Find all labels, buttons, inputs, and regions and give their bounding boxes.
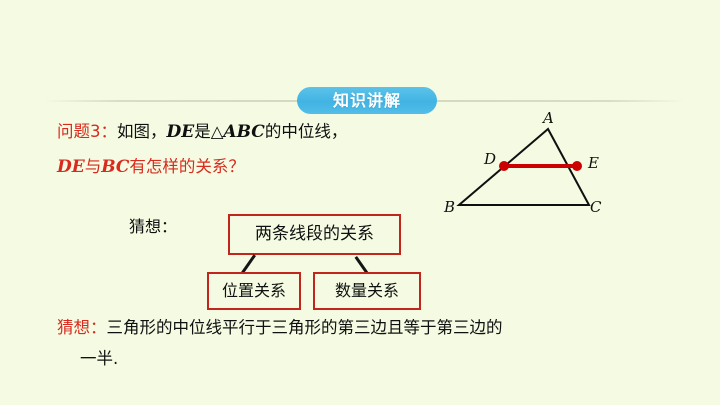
vertex-label-d: D xyxy=(484,152,496,167)
conclusion-line-1: 猜想：三角形的中位线平行于三角形的第三边且等于第三边的 xyxy=(57,320,503,337)
guess-label: 猜想： xyxy=(129,219,177,235)
slide-canvas: 知识讲解 问题3：如图，DE是△ABC的中位线， DE与BC有怎样的关系？ 猜想… xyxy=(0,0,720,405)
conclusion-text: 三角形的中位线平行于三角形的第三边且等于第三边的 xyxy=(107,318,503,337)
question-prefix: 问题3： xyxy=(57,122,117,141)
math-abc-1: ABC xyxy=(223,122,264,142)
vertex-label-e: E xyxy=(588,156,599,171)
flow-box-left: 位置关系 xyxy=(207,272,301,310)
question-text-b: 是△ xyxy=(194,122,223,141)
conclusion-line-2: 一半. xyxy=(80,351,118,368)
vertex-label-b: B xyxy=(444,200,455,215)
section-title-badge: 知识讲解 xyxy=(297,87,437,114)
math-de-1: DE xyxy=(167,122,195,142)
triangle-figure: A B C D E xyxy=(440,105,620,225)
vertex-label-a: A xyxy=(543,111,554,126)
question-text-e: 有怎样的关系？ xyxy=(129,157,245,176)
question-text-c: 的中位线， xyxy=(265,122,348,141)
question-line-1: 问题3：如图，DE是△ABC的中位线， xyxy=(57,124,347,141)
conclusion-prefix: 猜想： xyxy=(57,318,107,337)
question-text-d: 与 xyxy=(85,157,102,176)
math-bc-2: BC xyxy=(101,157,129,177)
section-title-text: 知识讲解 xyxy=(333,93,401,109)
question-text-a: 如图， xyxy=(117,122,167,141)
vertex-label-c: C xyxy=(590,200,601,215)
point-d-dot xyxy=(499,161,509,171)
question-line-2: DE与BC有怎样的关系？ xyxy=(57,159,245,176)
math-de-2: DE xyxy=(57,157,85,177)
flow-box-top: 两条线段的关系 xyxy=(228,214,401,255)
point-e-dot xyxy=(572,161,582,171)
flow-box-right: 数量关系 xyxy=(313,272,421,310)
